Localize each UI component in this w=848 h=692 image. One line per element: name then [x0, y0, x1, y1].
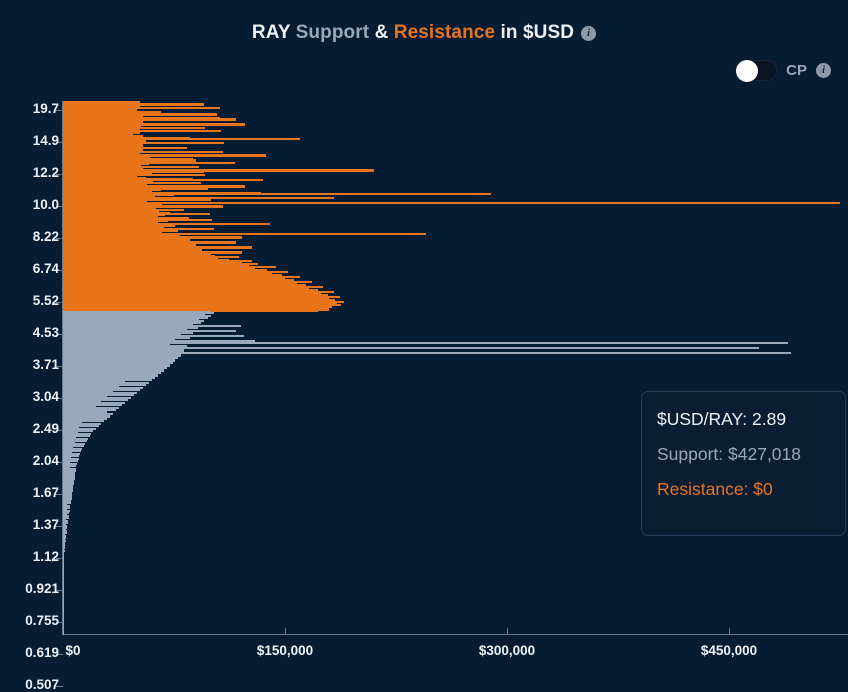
cp-info-icon[interactable]: i: [816, 63, 831, 78]
y-tick-label: 5.52: [33, 293, 59, 308]
y-tick-label: 2.49: [33, 421, 59, 436]
cp-control-group: CP i: [735, 60, 831, 81]
x-tick-label: $300,000: [479, 643, 535, 658]
cp-label: CP: [786, 62, 807, 79]
tooltip-price: $USD/RAY: 2.89: [657, 409, 845, 430]
y-tick-label: 10.0: [33, 197, 59, 212]
y-tick-label: 2.04: [33, 453, 59, 468]
y-tick-label: 0.921: [25, 581, 59, 596]
y-tick-label: 1.37: [33, 517, 59, 532]
support-bar: [63, 633, 64, 635]
title-resistance-word: Resistance: [394, 22, 495, 43]
title-suffix: in $USD: [501, 22, 575, 43]
y-tick-label: 4.53: [33, 325, 59, 340]
y-tick-label: 8.22: [33, 229, 59, 244]
title-ticker: RAY: [252, 22, 290, 43]
y-tick-label: 14.9: [33, 133, 59, 148]
plot-area: [63, 101, 848, 634]
x-tick-label: $0: [65, 643, 80, 658]
resistance-bar: [63, 202, 840, 204]
cp-toggle-switch[interactable]: [735, 60, 777, 81]
x-tick-label: $450,000: [701, 643, 757, 658]
tooltip-support: Support: $427,018: [657, 444, 845, 465]
price-tooltip: $USD/RAY: 2.89 Support: $427,018 Resista…: [641, 391, 846, 536]
y-tick-label: 6.74: [33, 261, 59, 276]
cp-toggle-knob[interactable]: [736, 60, 758, 82]
x-axis-line: [62, 634, 848, 635]
x-tick-label: $150,000: [257, 643, 313, 658]
title-ampersand: &: [375, 22, 389, 43]
y-tick-label: 0.619: [25, 645, 59, 660]
page-title: RAY Support & Resistance in $USDi: [0, 22, 848, 44]
y-tick-label: 1.12: [33, 549, 59, 564]
y-tick-label: 1.67: [33, 485, 59, 500]
support-resistance-chart: RAY Support & Resistance in $USDi CP i 1…: [0, 0, 848, 673]
title-support-word: Support: [296, 22, 370, 43]
y-tick-label: 0.507: [25, 677, 59, 692]
y-tick-label: 3.71: [33, 357, 59, 372]
tooltip-resistance: Resistance: $0: [657, 479, 845, 500]
y-tick-label: 12.2: [33, 165, 59, 180]
y-tick-label: 19.7: [33, 101, 59, 116]
title-info-icon[interactable]: i: [581, 26, 596, 41]
y-tick-label: 3.04: [33, 389, 59, 404]
y-tick-label: 0.755: [25, 613, 59, 628]
